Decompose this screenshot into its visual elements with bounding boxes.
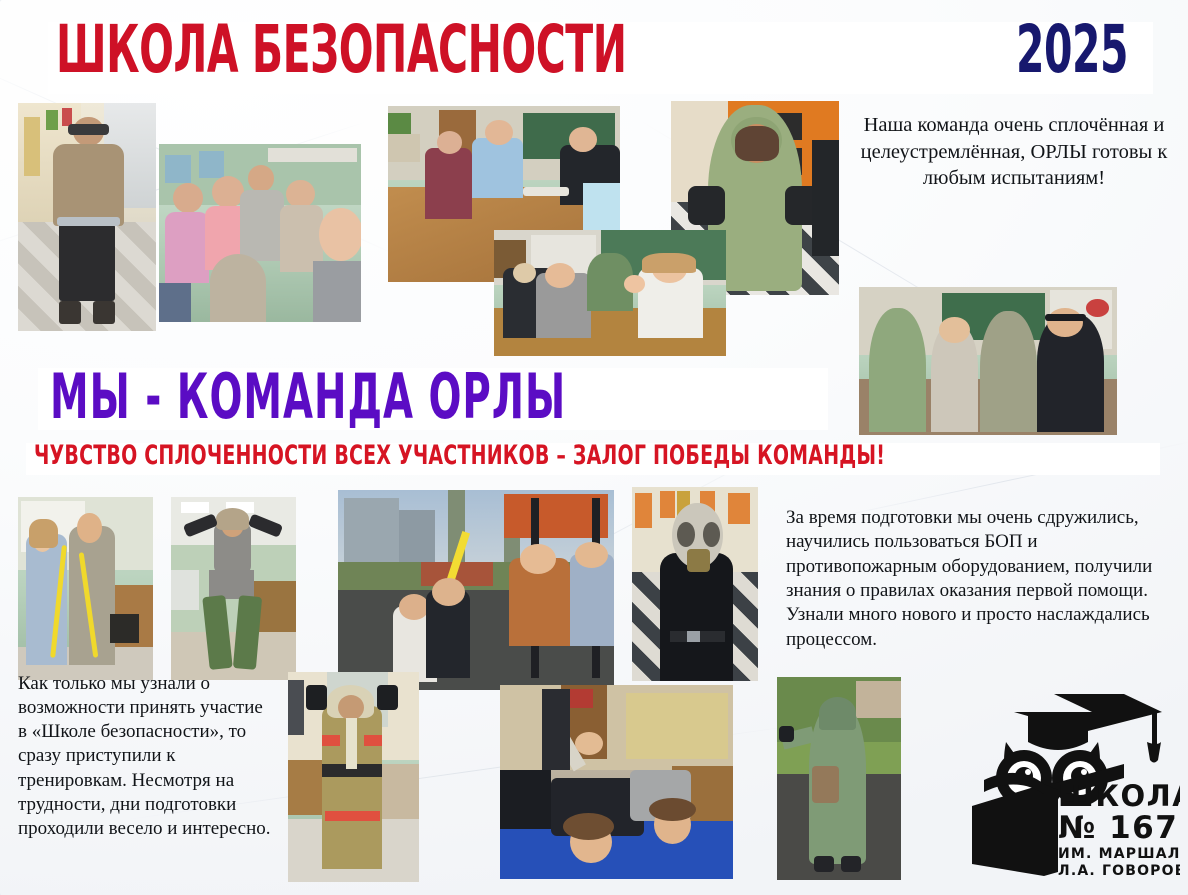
school-logo: ШКОЛА № 167 ИМ. МАРШАЛА Л.А. ГОВОРОВА	[966, 686, 1180, 891]
photo-outdoor-rope-training	[338, 490, 614, 690]
poster-title: ШКОЛА БЕЗОПАСНОСТИ	[56, 18, 626, 84]
team-banner: МЫ - КОМАНДА ОРЛЫ	[38, 368, 828, 430]
paragraph-top-right: Наша команда очень сплочённая и целеустр…	[846, 112, 1182, 192]
photo-student-rope-corridor	[18, 103, 156, 331]
poster-canvas: ШКОЛА БЕЗОПАСНОСТИ 2025 МЫ - КОМАНДА ОРЛ…	[0, 0, 1188, 895]
photo-girl-green-boots	[171, 497, 296, 680]
logo-school-word: ШКОЛА	[1058, 779, 1180, 813]
poster-year: 2025	[1016, 18, 1128, 84]
photo-ozk-outdoor	[777, 677, 901, 880]
logo-number: № 167	[1058, 810, 1178, 846]
paragraph-middle-right: За время подготовки мы очень сдружились,…	[786, 506, 1184, 652]
photo-group-classroom-peace	[159, 144, 361, 322]
title-banner: ШКОЛА БЕЗОПАСНОСТИ 2025	[48, 22, 1153, 94]
team-banner-text: МЫ - КОМАНДА ОРЛЫ	[50, 362, 566, 433]
motto-banner: ЧУВСТВО СПЛОЧЕННОСТИ ВСЕХ УЧАСТНИКОВ – З…	[26, 443, 1160, 475]
photo-firefighter-uniform	[288, 672, 419, 882]
logo-name-line2: Л.А. ГОВОРОВА	[1058, 863, 1180, 879]
owl-graduation-logo-icon: ШКОЛА № 167 ИМ. МАРШАЛА Л.А. ГОВОРОВА	[966, 686, 1180, 891]
photo-team-protective-suits	[859, 287, 1117, 435]
logo-name-line1: ИМ. МАРШАЛА	[1058, 846, 1180, 862]
motto-banner-text: ЧУВСТВО СПЛОЧЕННОСТИ ВСЕХ УЧАСТНИКОВ – З…	[34, 440, 885, 471]
photo-rope-measure-classroom	[18, 497, 153, 680]
paragraph-bottom-left: Как только мы узнали о возможности приня…	[18, 672, 276, 841]
photo-first-aid-mat	[500, 685, 733, 879]
photo-gas-mask	[632, 487, 758, 681]
photo-two-girls-peace-sign	[494, 230, 726, 356]
